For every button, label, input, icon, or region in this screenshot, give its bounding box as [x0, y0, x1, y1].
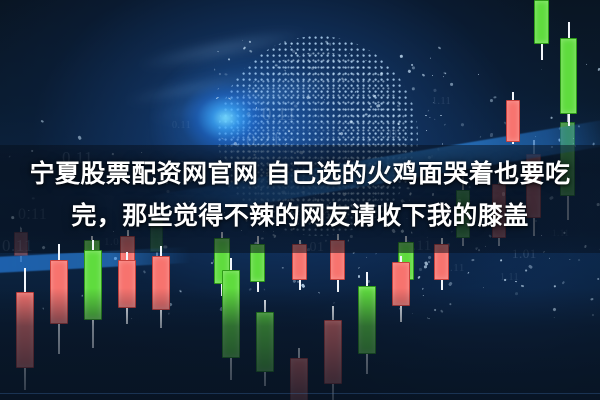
banner-image: 0.110.211.111.110.111.010.110.111.011.01…	[0, 0, 600, 400]
floor-gradient	[0, 288, 600, 400]
floor-divider	[0, 393, 600, 394]
page-title: 宁夏股票配资网官网 自己选的火鸡面哭着也要吃完，那些觉得不辣的网友请收下我的膝盖	[0, 153, 600, 237]
